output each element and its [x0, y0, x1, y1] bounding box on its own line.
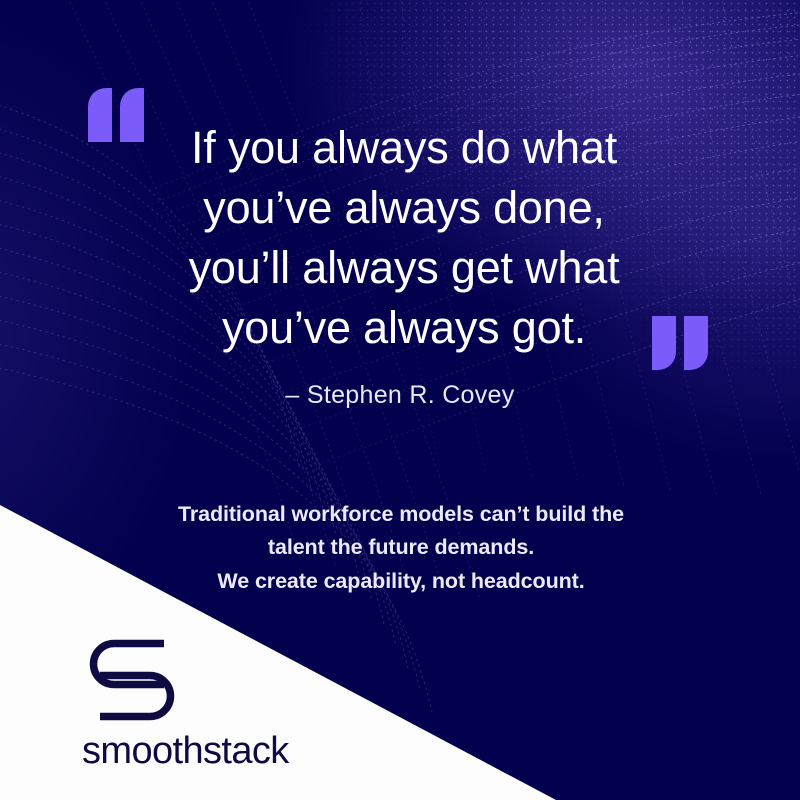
tagline-line: talent the future demands. — [60, 531, 742, 564]
quote-line: If you always do what — [100, 118, 708, 178]
tagline: Traditional workforce models can’t build… — [60, 498, 742, 598]
smoothstack-logo: smoothstack — [82, 636, 289, 770]
quote-card: If you always do what you’ve always done… — [0, 0, 800, 800]
smoothstack-s-monogram-icon — [86, 636, 178, 724]
quote-attribution: – Stephen R. Covey — [0, 381, 800, 410]
quote-line: you’ll always get what — [100, 238, 708, 298]
smoothstack-wordmark: smoothstack — [82, 732, 289, 770]
quote-line: you’ve always done, — [100, 178, 708, 238]
tagline-line: Traditional workforce models can’t build… — [60, 498, 742, 531]
quote-line: you’ve always got. — [100, 298, 708, 358]
quote-text: If you always do what you’ve always done… — [100, 118, 708, 357]
